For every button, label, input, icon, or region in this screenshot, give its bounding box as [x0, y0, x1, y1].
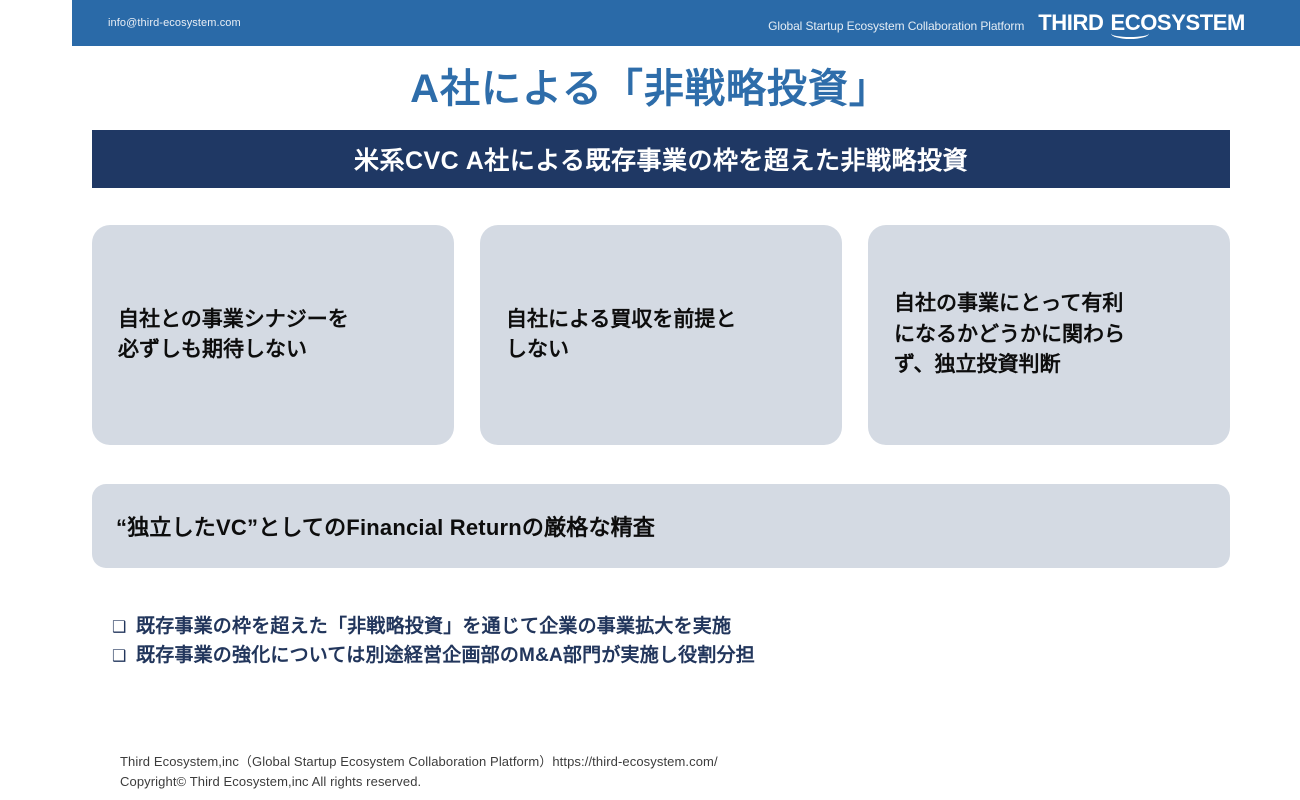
section-banner: 米系CVC A社による既存事業の枠を超えた非戦略投資	[92, 130, 1230, 188]
logo-ecosystem-text: ECOSYSTEM	[1110, 10, 1245, 35]
feature-box-1-text: 自社との事業シナジーを 必ずしも期待しない	[118, 305, 428, 366]
page-header: info@third-ecosystem.com Global Startup …	[72, 0, 1300, 46]
summary-box-text: “独立したVC”としてのFinancial Returnの厳格な精査	[116, 510, 655, 542]
feature-box-row: 自社との事業シナジーを 必ずしも期待しない 自社による買収を前提と しない 自社…	[92, 225, 1230, 445]
feature-box-3-text: 自社の事業にとって有利 になるかどうかに関わら ず、独立投資判断	[894, 289, 1204, 380]
feature-box-2-text: 自社による買収を前提と しない	[506, 305, 816, 366]
summary-box: “独立したVC”としてのFinancial Returnの厳格な精査	[92, 484, 1230, 568]
feature-box-3: 自社の事業にとって有利 になるかどうかに関わら ず、独立投資判断	[868, 225, 1230, 445]
page-footer: Third Ecosystem,inc（Global Startup Ecosy…	[120, 752, 718, 792]
footer-line-2: Copyright© Third Ecosystem,inc All right…	[120, 772, 718, 792]
bullet-list: ❑ 既存事業の枠を超えた「非戦略投資」を通じて企業の事業拡大を実施 ❑ 既存事業…	[112, 612, 1212, 671]
contact-email[interactable]: info@third-ecosystem.com	[108, 17, 241, 29]
list-item: ❑ 既存事業の強化については別途経営企画部のM&A部門が実施し役割分担	[112, 641, 1212, 670]
list-item-text: 既存事業の強化については別途経営企画部のM&A部門が実施し役割分担	[136, 641, 1212, 670]
logo-word-third: THIRD	[1038, 10, 1103, 36]
brand-logo[interactable]: THIRD ECOSYSTEM	[1038, 10, 1245, 36]
list-item-text: 既存事業の枠を超えた「非戦略投資」を通じて企業の事業拡大を実施	[136, 612, 1212, 641]
header-tagline: Global Startup Ecosystem Collaboration P…	[768, 19, 1024, 33]
square-bullet-icon: ❑	[112, 616, 136, 641]
square-bullet-icon: ❑	[112, 645, 136, 670]
section-banner-text: 米系CVC A社による既存事業の枠を超えた非戦略投資	[354, 141, 968, 177]
feature-box-2: 自社による買収を前提と しない	[480, 225, 842, 445]
list-item: ❑ 既存事業の枠を超えた「非戦略投資」を通じて企業の事業拡大を実施	[112, 612, 1212, 641]
header-brand-group: Global Startup Ecosystem Collaboration P…	[768, 10, 1245, 36]
page-title: A社による「非戦略投資」	[0, 56, 1300, 114]
logo-word-ecosystem: ECOSYSTEM	[1110, 10, 1245, 36]
feature-box-1: 自社との事業シナジーを 必ずしも期待しない	[92, 225, 454, 445]
footer-line-1: Third Ecosystem,inc（Global Startup Ecosy…	[120, 752, 718, 772]
